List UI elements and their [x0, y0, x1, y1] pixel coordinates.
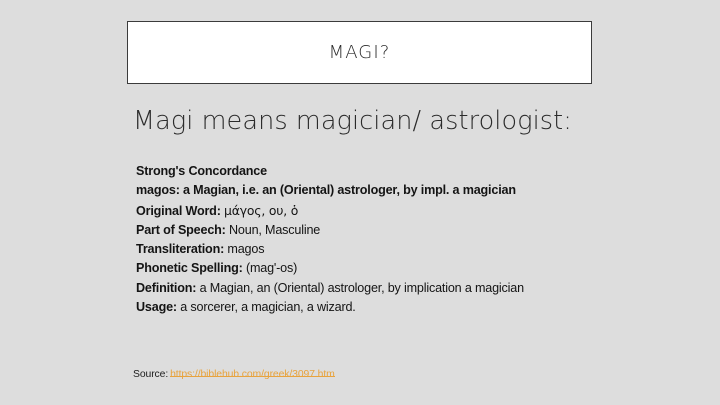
definition-row: Strong's Concordance	[136, 162, 696, 181]
definition-block: Strong's Concordance magos: a Magian, i.…	[136, 162, 696, 317]
title-box: MAGI?	[127, 21, 592, 84]
source-line: Source:https://biblehub.com/greek/3097.h…	[133, 369, 335, 380]
definition-row: Original Word: μάγος, ου, ὁ	[136, 201, 696, 221]
source-label: Source:	[133, 369, 168, 380]
definition-label: Transliteration:	[136, 242, 224, 256]
definition-label: Definition:	[136, 281, 196, 295]
slide-canvas: MAGI? Magi means magician/ astrologist: …	[0, 0, 720, 405]
page-title: MAGI?	[329, 42, 391, 63]
definition-value: μάγος, ου, ὁ	[224, 203, 298, 218]
definition-value: a Magian, an (Oriental) astrologer, by i…	[200, 281, 524, 295]
definition-row: Part of Speech: Noun, Masculine	[136, 221, 696, 240]
definition-value: Noun, Masculine	[229, 223, 320, 237]
definition-row: magos: a Magian, i.e. an (Oriental) astr…	[136, 181, 696, 200]
definition-value: a sorcerer, a magician, a wizard.	[180, 300, 355, 314]
definition-row: Transliteration: magos	[136, 240, 696, 259]
definition-value: magos	[227, 242, 264, 256]
definition-label: Phonetic Spelling:	[136, 261, 243, 275]
definition-value: (mag'-os)	[246, 261, 297, 275]
source-link[interactable]: https://biblehub.com/greek/3097.htm	[170, 369, 335, 380]
definition-label: Usage:	[136, 300, 177, 314]
section-heading: Magi means magician/ astrologist:	[133, 106, 572, 136]
definition-label: Part of Speech:	[136, 223, 226, 237]
definition-label: magos: a Magian, i.e. an (Oriental) astr…	[136, 183, 516, 197]
definition-row: Phonetic Spelling: (mag'-os)	[136, 259, 696, 278]
definition-row: Definition: a Magian, an (Oriental) astr…	[136, 279, 696, 298]
definition-row: Usage: a sorcerer, a magician, a wizard.	[136, 298, 696, 317]
definition-label: Original Word:	[136, 204, 221, 218]
definition-label: Strong's Concordance	[136, 164, 267, 178]
